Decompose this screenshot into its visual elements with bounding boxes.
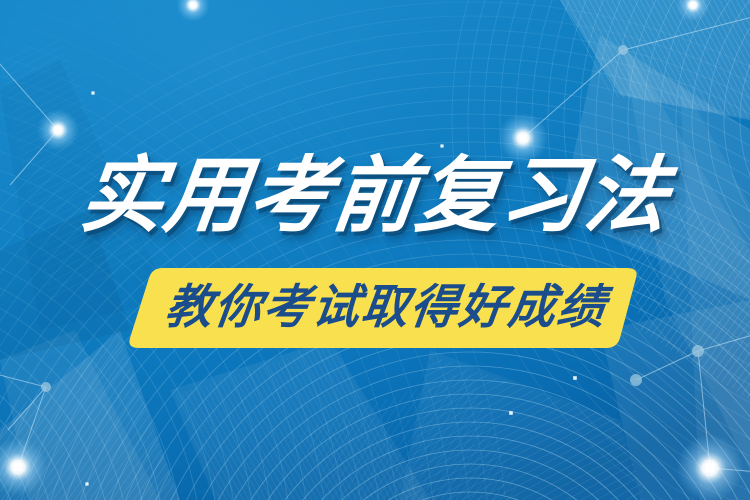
micro-dot-mid	[440, 144, 443, 147]
link-bottom-left-a	[0, 370, 46, 387]
promo-banner: 实用考前复习法 教你考试取得好成绩	[0, 0, 750, 500]
ring-node-bottom-left	[41, 382, 51, 392]
glow-dot-left	[37, 109, 79, 151]
glow-dot-upper-left	[176, 0, 210, 22]
micro-dot-far-right	[509, 411, 513, 415]
link-bottom-right-d	[698, 330, 750, 351]
glow-dot-bottom-right	[676, 434, 743, 500]
glow-dot-top-right	[676, 0, 710, 22]
link-bottom-left-b	[8, 387, 46, 430]
ring-node-bottom-right	[630, 374, 642, 386]
ring-node-far-right	[692, 345, 704, 357]
micro-dot-right	[573, 376, 577, 380]
micro-dot-bottom-left	[85, 482, 88, 485]
link-bottom-right-a	[636, 351, 698, 380]
node-network-layer	[0, 0, 750, 500]
micro-dot-upper-mid	[91, 91, 94, 94]
glow-dot-bottom-left	[0, 438, 47, 497]
glow-dot-mid-right	[498, 113, 548, 163]
ring-node-upper-right	[618, 45, 628, 55]
